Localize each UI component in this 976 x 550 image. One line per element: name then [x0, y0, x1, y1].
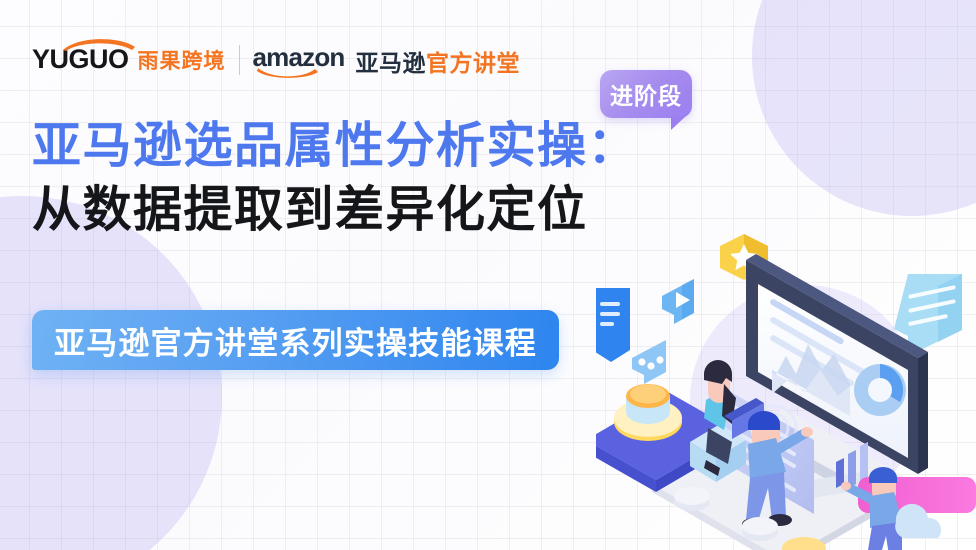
- headline-line-2: 从数据提取到差异化定位: [32, 182, 638, 240]
- logo-row: YUGUO 雨果跨境 amazon 亚马逊官方讲堂: [32, 44, 520, 75]
- yuguo-chinese-name: 雨果跨境: [138, 51, 226, 73]
- background-circle-left: [0, 196, 222, 550]
- amazon-wordmark: amazon: [253, 44, 345, 75]
- amazon-cn-orange: 官方讲堂: [426, 50, 520, 76]
- background-circle-top-right: [752, 0, 976, 216]
- donut-chart: [854, 364, 906, 416]
- vertical-divider: [239, 45, 240, 75]
- course-promo-banner: YUGUO 雨果跨境 amazon 亚马逊官方讲堂 进阶段 亚马逊选品属性分析实…: [0, 0, 976, 550]
- yuguo-logo: YUGUO 雨果跨境: [32, 46, 226, 73]
- amazon-chinese-label: 亚马逊官方讲堂: [356, 51, 521, 75]
- page-title: 亚马逊选品属性分析实操： 从数据提取到差异化定位: [32, 118, 638, 240]
- subtitle-banner: 亚马逊官方讲堂系列实操技能课程: [32, 310, 559, 370]
- document-icon: [596, 288, 630, 362]
- dots-chat-bubble-icon: [632, 340, 666, 384]
- amazon-cn-dark: 亚马逊: [356, 50, 427, 76]
- amazon-lecture-logo: amazon 亚马逊官方讲堂: [253, 44, 521, 75]
- level-badge-label: 进阶段: [610, 77, 682, 111]
- amazon-smile-icon: [257, 66, 319, 79]
- headline-line-1: 亚马逊选品属性分析实操：: [32, 118, 638, 176]
- subtitle-text: 亚马逊官方讲堂系列实操技能课程: [54, 318, 537, 363]
- isometric-illustration: [596, 232, 976, 550]
- play-bubble-icon: [662, 279, 694, 324]
- level-badge: 进阶段: [600, 70, 692, 118]
- orange-arc-icon: [62, 35, 136, 51]
